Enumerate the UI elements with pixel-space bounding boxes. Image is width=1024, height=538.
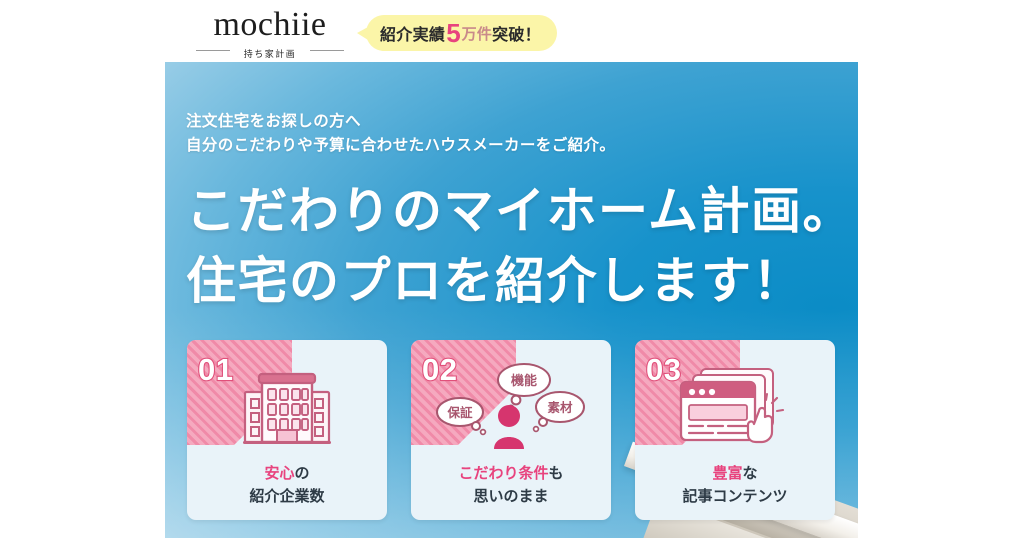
card-label-tail: も — [549, 465, 564, 482]
bubble-label-kinou: 機能 — [511, 373, 537, 388]
hero-headline: こだわりのマイホーム計画。 住宅のプロを紹介します！ — [186, 176, 846, 316]
bubble-label-hoshou: 保証 — [446, 405, 473, 420]
card-label-02: こだわり条件も 思いのまま — [411, 462, 611, 508]
card-label-highlight: 安心 — [264, 465, 294, 482]
badge-number: 5 — [445, 20, 461, 46]
badge-suffix-text: 突破！ — [492, 21, 541, 45]
building-icon — [187, 362, 387, 450]
logo-divider-rule: 持ち家計画 — [186, 44, 354, 56]
browser-windows-hand-icon — [635, 362, 835, 450]
card-label-highlight: 豊富 — [712, 465, 742, 482]
badge-unit-text: 万件 — [462, 23, 492, 44]
card-label-01: 安心の 紹介企業数 — [187, 462, 387, 508]
hero-headline-line-2: 住宅のプロを紹介します！ — [186, 246, 846, 316]
card-label-tail: な — [743, 465, 758, 482]
logo-tagline: 持ち家計画 — [238, 48, 303, 60]
site-logo[interactable]: mochiie 持ち家計画 — [186, 8, 354, 56]
feature-card-03[interactable]: 03 — [635, 340, 835, 520]
card-label-03: 豊富な 記事コンテンツ — [635, 462, 835, 508]
hero-copy: 注文住宅をお探しの方へ 自分のこだわりや予算に合わせたハウスメーカーをご紹介。 … — [186, 110, 846, 316]
card-label-line-2: 紹介企業数 — [187, 485, 387, 508]
card-label-highlight: こだわり条件 — [458, 465, 548, 482]
person-thought-bubbles-icon: 機能 保証 素材 — [411, 362, 611, 450]
feature-card-list: 01 — [187, 340, 837, 520]
card-label-line-1: こだわり条件も — [411, 462, 611, 485]
hero-lead-line-2: 自分のこだわりや予算に合わせたハウスメーカーをご紹介。 — [186, 134, 846, 158]
feature-card-02[interactable]: 02 機能 保証 — [411, 340, 611, 520]
hero-banner: 注文住宅をお探しの方へ 自分のこだわりや予算に合わせたハウスメーカーをご紹介。 … — [165, 62, 858, 538]
card-label-line-2: 記事コンテンツ — [635, 485, 835, 508]
logo-wordmark: mochiie — [186, 8, 354, 42]
card-label-line-1: 豊富な — [635, 462, 835, 485]
landing-page: mochiie 持ち家計画 紹介実績 5 万件 突破！ 注文住宅をお探しの方へ … — [0, 0, 1024, 538]
card-label-line-2: 思いのまま — [411, 485, 611, 508]
badge-prefix-text: 紹介実績 — [380, 21, 445, 45]
card-label-tail: の — [295, 465, 310, 482]
card-label-line-1: 安心の — [187, 462, 387, 485]
feature-card-01[interactable]: 01 — [187, 340, 387, 520]
bubble-label-sozai: 素材 — [547, 400, 573, 415]
hero-lead-line-1: 注文住宅をお探しの方へ — [186, 110, 846, 134]
achievement-badge: 紹介実績 5 万件 突破！ — [366, 15, 557, 51]
hero-headline-line-1: こだわりのマイホーム計画。 — [186, 176, 846, 246]
site-header: mochiie 持ち家計画 紹介実績 5 万件 突破！ — [0, 0, 1024, 62]
